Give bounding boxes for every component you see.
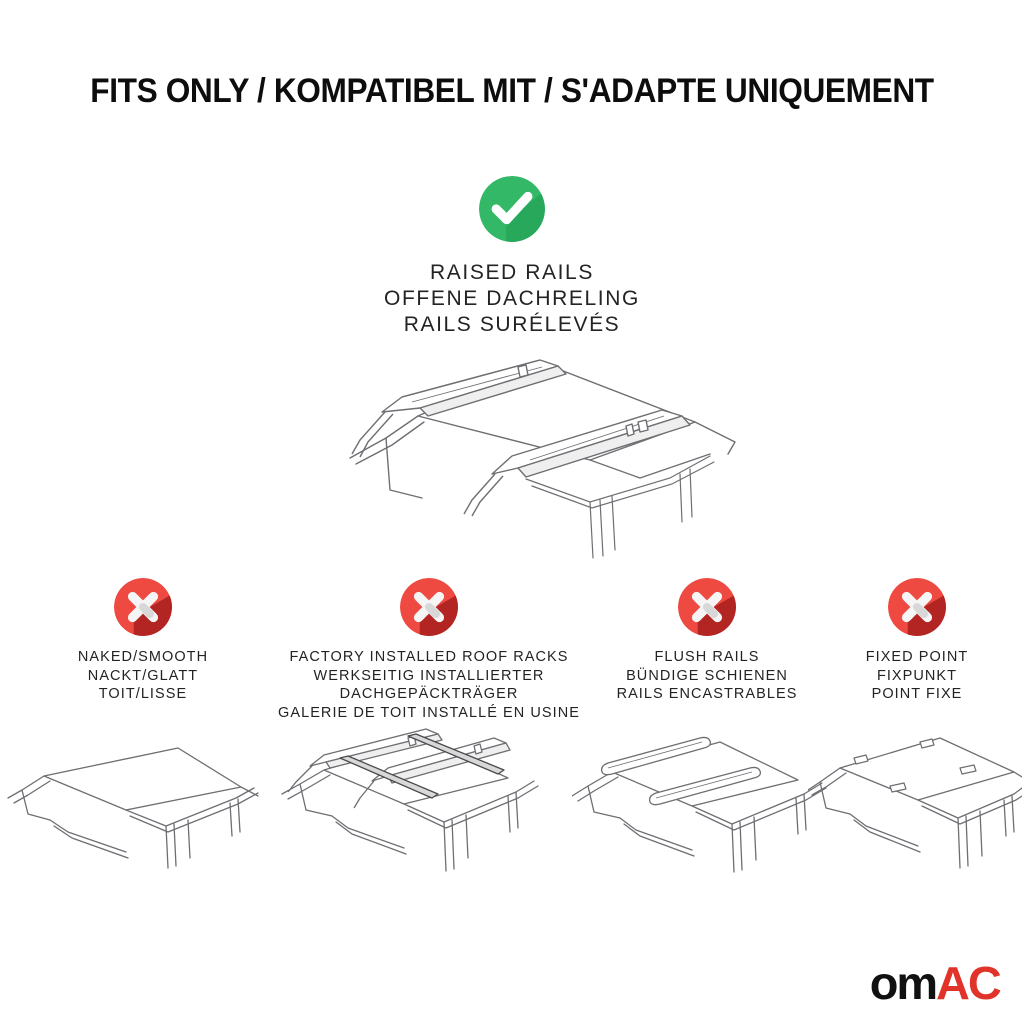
fitment-infographic: FITS ONLY / KOMPATIBEL MIT / S'ADAPTE UN… — [0, 0, 1024, 1024]
incompatible-labels: FACTORY INSTALLED ROOF RACKS WERKSEITIG … — [278, 648, 580, 722]
check-circle-icon — [479, 176, 545, 242]
cross-circle-icon — [678, 578, 736, 636]
label-fr: TOIT/LISSE — [78, 685, 208, 704]
incompatible-column-factory-racks: FACTORY INSTALLED ROOF RACKS WERKSEITIG … — [268, 578, 590, 722]
page-title: FITS ONLY / KOMPATIBEL MIT / S'ADAPTE UN… — [36, 72, 988, 111]
logo-text-om: om — [869, 957, 935, 1009]
car-roof-fixed-point-illustration — [808, 726, 1022, 876]
incompatible-labels: FIXED POINT FIXPUNKT POINT FIXE — [866, 648, 969, 704]
label-de: FIXPUNKT — [866, 667, 969, 686]
car-roof-raised-rails-illustration — [290, 350, 750, 560]
compatible-labels: RAISED RAILS OFFENE DACHRELING RAILS SUR… — [384, 260, 640, 338]
incompatible-labels: FLUSH RAILS BÜNDIGE SCHIENEN RAILS ENCAS… — [617, 648, 798, 704]
label-fr: POINT FIXE — [866, 685, 969, 704]
label-en: NAKED/SMOOTH — [78, 648, 208, 667]
label-de: NACKT/GLATT — [78, 667, 208, 686]
cross-circle-icon — [114, 578, 172, 636]
compatible-label-en: RAISED RAILS — [384, 260, 640, 286]
label-en: FACTORY INSTALLED ROOF RACKS — [278, 648, 580, 667]
label-de-1: WERKSEITIG INSTALLIERTER — [278, 667, 580, 686]
cross-circle-icon — [400, 578, 458, 636]
label-en: FLUSH RAILS — [617, 648, 798, 667]
label-fr: RAILS ENCASTRABLES — [617, 685, 798, 704]
car-roof-naked-illustration — [6, 740, 268, 870]
incompatible-column-flush-rails: FLUSH RAILS BÜNDIGE SCHIENEN RAILS ENCAS… — [592, 578, 822, 704]
label-de-2: DACHGEPÄCKTRÄGER — [278, 685, 580, 704]
cross-circle-icon — [888, 578, 946, 636]
label-de: BÜNDIGE SCHIENEN — [617, 667, 798, 686]
compatible-label-de: OFFENE DACHRELING — [384, 286, 640, 312]
incompatible-sections: NAKED/SMOOTH NACKT/GLATT TOIT/LISSE — [0, 578, 1024, 728]
car-roof-factory-racks-illustration — [276, 726, 568, 876]
compatible-label-fr: RAILS SURÉLEVÉS — [384, 312, 640, 338]
car-roof-flush-rails-illustration — [572, 730, 838, 876]
label-fr: GALERIE DE TOIT INSTALLÉ EN USINE — [278, 704, 580, 723]
incompatible-column-fixed-point: FIXED POINT FIXPUNKT POINT FIXE — [824, 578, 1010, 704]
incompatible-labels: NAKED/SMOOTH NACKT/GLATT TOIT/LISSE — [78, 648, 208, 704]
incompatible-column-naked: NAKED/SMOOTH NACKT/GLATT TOIT/LISSE — [18, 578, 268, 704]
omac-logo: omAC — [869, 960, 999, 1006]
logo-text-ac: AC — [936, 957, 1000, 1009]
label-en: FIXED POINT — [866, 648, 969, 667]
compatible-section: RAISED RAILS OFFENE DACHRELING RAILS SUR… — [0, 176, 1024, 338]
